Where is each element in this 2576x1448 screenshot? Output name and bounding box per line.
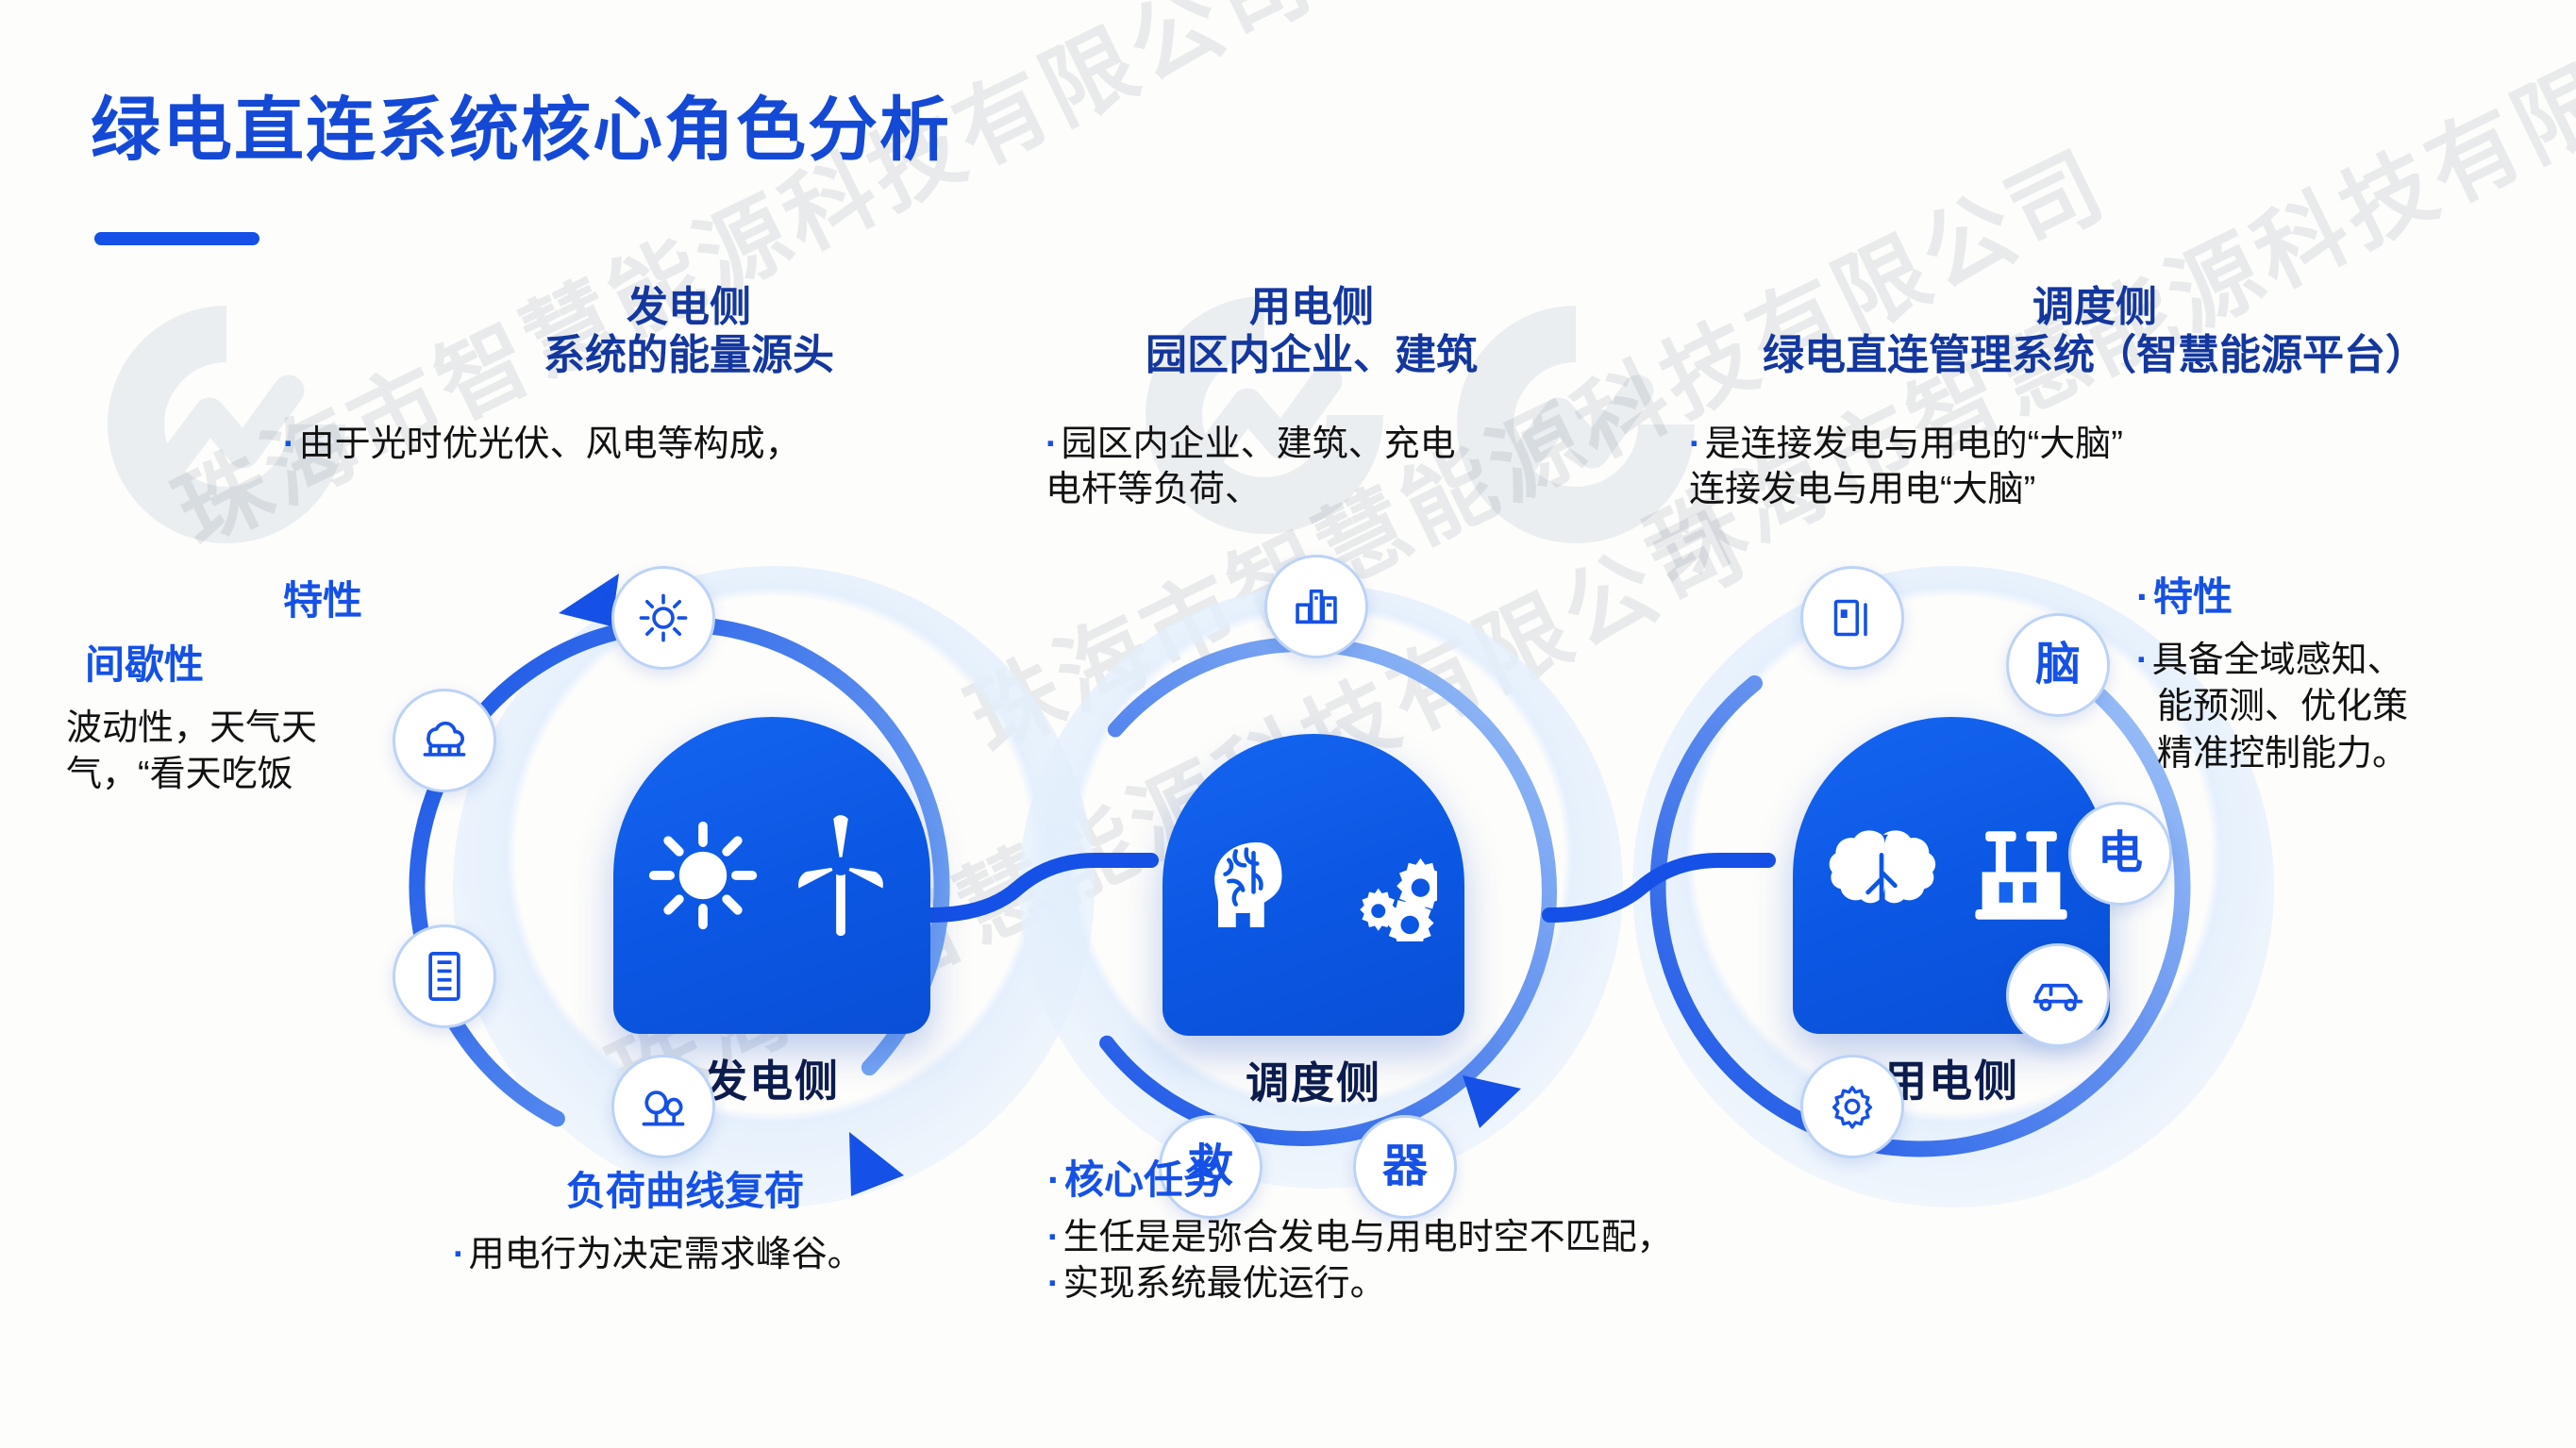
column-bullets-generation: 由于光时优光伏、风电等构成， [283, 423, 801, 468]
annotation-line: 具备全域感知、 [2136, 638, 2408, 684]
satellite-city-buildings-icon[interactable] [1264, 555, 1368, 658]
annotation-left-body: 波动性，天气天 气，“看天吃饭 [66, 706, 317, 799]
annotation-line: 波动性，天气天 [66, 706, 317, 752]
satellite-glyph-power[interactable]: 电 [2068, 802, 2172, 906]
bullet-item-continued: 连接发电与用电“大脑” [1689, 468, 2123, 513]
column-bullets-dispatch: 是连接发电与用电的“大脑” 连接发电与用电“大脑” [1689, 423, 2123, 513]
column-heading-generation-line2: 系统的能量源头 [443, 331, 934, 379]
sun-icon [644, 817, 761, 934]
wind-turbine-icon [782, 807, 899, 943]
bullet-item: 园区内企业、建筑、充电 [1045, 423, 1456, 468]
annotation-bottomleft-body: 用电行为决定需求峰谷。 [453, 1232, 863, 1278]
annotation-left-kicker: 特性 [283, 577, 362, 624]
satellite-cloud-building-icon[interactable] [393, 689, 496, 792]
node-dispatch[interactable] [1163, 734, 1464, 1036]
column-heading-dispatch: 调度侧 绿电直连管理系统（智慧能源平台） [1670, 283, 2519, 379]
column-heading-consumption-line2: 园区内企业、建筑 [1047, 331, 1576, 379]
column-heading-consumption-line1: 用电侧 [1047, 283, 1576, 331]
gears-icon [1324, 828, 1437, 941]
satellite-gear-icon[interactable] [1800, 1055, 1904, 1158]
satellite-car-icon[interactable] [2006, 943, 2110, 1047]
annotation-line: 精准控制能力。 [2136, 731, 2408, 777]
title-underline [94, 232, 259, 245]
annotation-left-subkicker: 间歇性 [85, 641, 204, 689]
brain-icon [1822, 820, 1941, 931]
annotation-bottomcenter-body: 生任是是弥合发电与用电时空不匹配， 实现系统最优运行。 [1047, 1215, 1673, 1308]
annotation-right-body: 具备全域感知、 能预测、优化策 精准控制能力。 [2136, 638, 2408, 777]
bullet-item: 由于光时优光伏、风电等构成， [283, 423, 801, 468]
factory-icon [1962, 820, 2081, 931]
satellite-trees-icon[interactable] [611, 1055, 715, 1158]
node-dispatch-label: 调度侧 [1163, 1049, 1464, 1111]
satellite-glyph-device[interactable]: 器 [1353, 1115, 1457, 1219]
annotation-line: 实现系统最优运行。 [1047, 1261, 1673, 1307]
satellite-sun-icon[interactable] [611, 566, 715, 670]
annotation-bottomcenter-kicker: 核心任务 [1047, 1157, 1223, 1204]
brain-head-icon [1190, 828, 1303, 941]
bullet-item: 是连接发电与用电的“大脑” [1689, 423, 2123, 468]
satellite-document-building-icon[interactable] [393, 924, 496, 1028]
column-heading-generation-line1: 发电侧 [443, 283, 934, 331]
annotation-right-kicker: 特性 [2136, 574, 2233, 621]
annotation-line: 生任是是弥合发电与用电时空不匹配， [1047, 1215, 1673, 1261]
column-heading-dispatch-line1: 调度侧 [1670, 283, 2519, 331]
node-generation[interactable] [613, 717, 930, 1034]
annotation-line: 气，“看天吃饭 [66, 752, 317, 798]
column-heading-consumption: 用电侧 园区内企业、建筑 [1047, 283, 1576, 379]
column-heading-generation: 发电侧 系统的能量源头 [443, 283, 934, 379]
column-heading-dispatch-line2: 绿电直连管理系统（智慧能源平台） [1670, 331, 2519, 379]
page-title: 绿电直连系统核心角色分析 [91, 74, 951, 175]
satellite-glyph-brain[interactable]: 脑 [2006, 613, 2110, 717]
satellite-chart-bar-icon[interactable] [1800, 566, 1904, 670]
annotation-bottomleft-kicker: 负荷曲线复荷 [566, 1168, 804, 1215]
column-bullets-consumption: 园区内企业、建筑、充电 电杆等负荷、 [1045, 423, 1456, 513]
annotation-line: 能预测、优化策 [2136, 684, 2408, 730]
bullet-item-continued: 电杆等负荷、 [1045, 468, 1456, 513]
annotation-line: 用电行为决定需求峰谷。 [453, 1232, 863, 1278]
